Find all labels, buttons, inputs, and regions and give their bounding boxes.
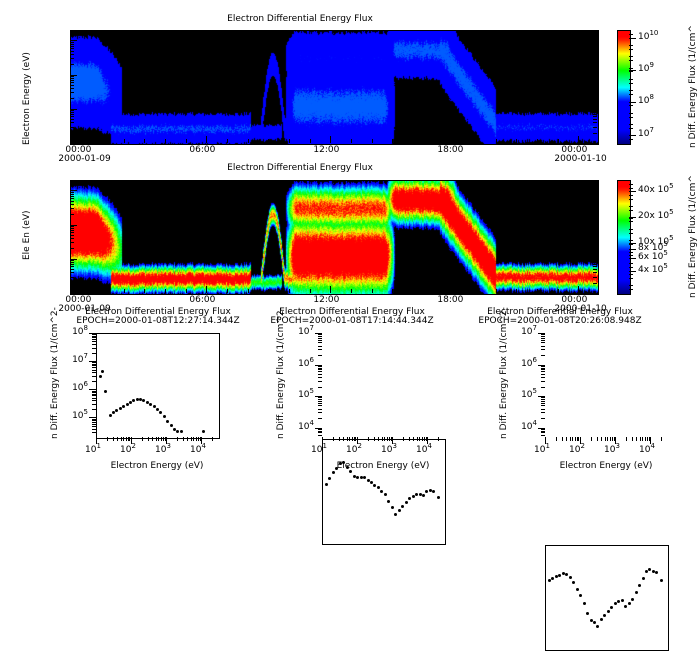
spectrum-2-data-point <box>401 505 404 508</box>
spectrum-1-data-point <box>99 375 102 378</box>
panel2-y-minor-tick <box>593 198 597 199</box>
panel2-x-minor-tick <box>516 289 517 293</box>
panel1-y-minor-tick <box>70 112 74 113</box>
panel1-y-minor-tick <box>70 92 74 93</box>
spectrum-2-x-minor-tick <box>417 437 418 441</box>
spectrum-1-x-minor-tick <box>193 437 194 441</box>
spectrum-3-x-minor-tick <box>614 437 615 441</box>
panel2-y-minor-tick <box>70 272 74 273</box>
spectrum-1-y-minor-tick <box>92 392 96 393</box>
panel2-colorbar-minor-tick <box>629 263 633 264</box>
panel2-x-minor-tick <box>413 289 414 293</box>
spectrum-1-data-point <box>149 403 152 406</box>
spectrum-2-x-minor-tick <box>349 437 350 441</box>
panel1-y-minor-tick <box>70 44 74 45</box>
panel2-y-minor-tick <box>70 262 74 263</box>
panel1-x-label: 12:00 <box>313 145 339 155</box>
panel2-x-minor-tick <box>558 289 559 293</box>
panel1-y-minor-tick <box>593 82 597 83</box>
spectrum-2-y-minor-tick <box>318 418 322 419</box>
spectrum-3-data-point <box>565 573 568 576</box>
spectrum-3-data-point <box>572 581 575 584</box>
spectrum-3-data-point <box>624 605 627 608</box>
panel1-colorbar-minor-tick <box>629 68 633 69</box>
spectrum-1-y-minor-tick <box>92 370 96 371</box>
panel2-ylabel: Ele En (eV) <box>22 210 32 260</box>
spectrum-1-y-major-tick <box>89 389 96 390</box>
spectrum-1-data-point <box>163 415 166 418</box>
spectrum-3-y-minor-tick <box>541 432 545 433</box>
spectrum-1-y-minor-tick <box>92 365 96 366</box>
spectrum-1-data-point <box>176 430 179 433</box>
panel2-x-minor-tick <box>537 289 538 293</box>
spectrum-3-y-minor-tick <box>541 374 545 375</box>
spectrum-3-data-point <box>551 577 554 580</box>
spectrum-2-data-point <box>332 471 335 474</box>
panel1-colorbar-label: 107 <box>638 129 654 139</box>
spectrum-1-data-point <box>126 403 129 406</box>
spectrum-1-data-point <box>115 409 118 412</box>
panel1-y-minor-tick <box>593 80 597 81</box>
panel1-colorbar-label: 108 <box>638 96 654 106</box>
panel1-x-minor-tick <box>475 139 476 143</box>
panel1-colorbar-minor-tick <box>629 83 633 84</box>
spectrum-2-x-minor-tick <box>355 437 356 441</box>
panel1-y-minor-tick <box>70 64 74 65</box>
spectrum-3-x-minor-tick <box>591 437 592 441</box>
spectrum-3-x-minor-tick <box>562 437 563 441</box>
panel2-x-label: 12:00 <box>313 295 339 305</box>
panel1-y-minor-tick <box>593 116 597 117</box>
panel1-x-minor-tick <box>496 139 497 143</box>
panel1-y-minor-tick <box>70 80 74 81</box>
panel1-y-major-tick <box>70 40 77 41</box>
panel1-colorbar-minor-tick <box>629 105 633 106</box>
panel2-y-minor-tick <box>593 228 597 229</box>
panel1-colorbar-label: 109 <box>638 64 654 74</box>
spectrum-1-x-minor-tick <box>117 437 118 441</box>
spectrum-3-data-point <box>655 571 658 574</box>
panel1-x-minor-tick <box>372 139 373 143</box>
spectrum-2-y-label: 105 <box>290 390 314 400</box>
spectrum-3-x-minor-tick <box>661 437 662 441</box>
spectrum-2-x-minor-tick <box>391 437 392 441</box>
spectrum-3-ylabel: n Diff. Energy Flux (1/(cm^2- <box>499 307 509 439</box>
panel2-spectrogram[interactable] <box>70 180 599 295</box>
spectrum-1-y-minor-tick <box>92 348 96 349</box>
panel2-y-major-tick <box>590 190 597 191</box>
spectrum-3-x-minor-tick <box>556 437 557 441</box>
spectrum-3-y-minor-tick <box>541 412 545 413</box>
spectrum-1-xlabel: Electron Energy (eV) <box>68 461 246 471</box>
panel2-x-minor-tick <box>392 289 393 293</box>
spectrum-3-plot[interactable] <box>545 545 669 651</box>
spectrum-2-data-point <box>437 496 440 499</box>
spectrum-3-y-minor-tick <box>541 397 545 398</box>
spectrum-3-x-minor-tick <box>645 437 646 441</box>
spectrum-2-y-minor-tick <box>318 409 322 410</box>
panel1-x-minor-tick <box>103 139 104 143</box>
spectrum-2-x-minor-tick <box>378 437 379 441</box>
panel2-y-major-tick <box>70 190 77 191</box>
spectrum-1-x-minor-tick <box>191 437 192 441</box>
spectrum-3-data-point <box>600 618 603 621</box>
panel1-y-minor-tick <box>70 46 74 47</box>
panel1-y-minor-tick <box>593 112 597 113</box>
panel1-title: Electron Differential Energy Flux <box>0 14 600 24</box>
panel2-colorbar-minor-tick <box>629 274 633 275</box>
spectrum-1-data-point <box>142 399 145 402</box>
panel1-colorbar-minor-tick <box>629 71 633 72</box>
panel1-y-minor-tick <box>70 119 74 120</box>
spectrum-1-x-minor-tick <box>121 437 122 441</box>
spectrum-1-y-minor-tick <box>92 353 96 354</box>
spectrum-3-y-minor-tick <box>541 355 545 356</box>
spectrum-1-y-minor-tick <box>92 394 96 395</box>
spectrum-2-data-point <box>422 494 425 497</box>
panel1-y-minor-tick <box>593 119 597 120</box>
spectrum-1-data-point <box>166 420 169 423</box>
spectrum-3-x-minor-tick <box>601 437 602 441</box>
spectrum-1-x-minor-tick <box>126 437 127 441</box>
spectrum-2-y-minor-tick <box>318 366 322 367</box>
spectrum-2-y-minor-tick <box>318 387 322 388</box>
panel2-y-minor-tick <box>70 242 74 243</box>
panel2-colorbar-minor-tick <box>629 255 633 256</box>
panel2-x-minor-tick <box>124 289 125 293</box>
spectrum-2-y-minor-tick <box>318 342 322 343</box>
spectrum-3-y-minor-tick <box>541 401 545 402</box>
spectrum-2-x-label: 102 <box>346 445 362 455</box>
spectrum-3-y-minor-tick <box>541 418 545 419</box>
panel2-y-major-tick <box>590 293 597 294</box>
panel1-x-minor-tick <box>289 139 290 143</box>
spectrum-1-data-point <box>112 411 115 414</box>
spectrum-3-data-point <box>548 579 551 582</box>
panel2-y-minor-tick <box>593 242 597 243</box>
spectrum-1-x-minor-tick <box>152 437 153 441</box>
spectrum-3-data-point <box>569 576 572 579</box>
spectrum-3-xlabel: Electron Energy (eV) <box>517 461 695 471</box>
panel1-colorbar-minor-tick <box>629 102 633 103</box>
spectrum-2-x-minor-tick <box>389 437 390 441</box>
panel2-y-minor-tick <box>70 238 74 239</box>
panel1-y-major-tick <box>70 143 77 144</box>
spectrum-1-y-minor-tick <box>92 372 96 373</box>
panel2-x-major-tick <box>578 286 579 293</box>
spectrum-2-x-minor-tick <box>339 437 340 441</box>
spectrum-2-data-point <box>384 493 387 496</box>
panel1-colorbar-minor-tick <box>629 45 633 46</box>
panel1-colorbar-minor-tick <box>629 56 633 57</box>
spectrum-2-x-minor-tick <box>384 437 385 441</box>
panel2-y-minor-tick <box>70 226 74 227</box>
panel2-y-minor-tick <box>593 264 597 265</box>
spectrum-1-y-minor-tick <box>92 367 96 368</box>
panel1-y-minor-tick <box>70 114 74 115</box>
spectrum-2-y-minor-tick <box>318 381 322 382</box>
panel1-x-major-tick <box>82 136 83 143</box>
spectrum-3-data-point <box>638 584 641 587</box>
spectrum-2-x-minor-tick <box>352 437 353 441</box>
panel1-y-minor-tick <box>593 46 597 47</box>
panel2-y-minor-tick <box>70 228 74 229</box>
spectrum-1-x-minor-tick <box>187 437 188 441</box>
spectrum-1-x-minor-tick <box>142 437 143 441</box>
panel2-colorbar-tick <box>629 271 636 272</box>
spectrum-1-y-label: 107 <box>64 355 88 365</box>
spectrum-2-y-label: 106 <box>290 359 314 369</box>
panel2-y-minor-tick <box>70 277 74 278</box>
spectrum-1-y-minor-tick <box>92 334 96 335</box>
spectrum-3-y-minor-tick <box>541 381 545 382</box>
panel1-y-minor-tick <box>70 122 74 123</box>
spectrum-1-x-minor-tick <box>123 437 124 441</box>
panel1-y-minor-tick <box>70 78 74 79</box>
spectrum-3-data-point <box>628 602 631 605</box>
panel1-y-minor-tick <box>593 76 597 77</box>
panel1-y-minor-tick <box>70 116 74 117</box>
panel2-colorbar-minor-tick <box>629 206 633 207</box>
panel2-colorbar-minor-tick <box>629 289 633 290</box>
spectrum-2-y-minor-tick <box>318 369 322 370</box>
spectrum-3-y-minor-tick <box>541 431 545 432</box>
spectrum-3-x-minor-tick <box>605 437 606 441</box>
spectrum-3-data-point <box>617 600 620 603</box>
panel2-colorbar-minor-tick <box>629 233 633 234</box>
panel1-y-minor-tick <box>593 58 597 59</box>
spectrum-2-ylabel: n Diff. Energy Flux (1/(cm^2- <box>276 307 286 439</box>
spectrum-3-x-minor-tick <box>612 437 613 441</box>
panel2-y-minor-tick <box>70 194 74 195</box>
panel2-y-minor-tick <box>593 235 597 236</box>
spectrum-2-data-point <box>415 493 418 496</box>
panel2-y-major-tick <box>590 225 597 226</box>
spectrum-2-y-minor-tick <box>318 431 322 432</box>
spectrum-2-x-minor-tick <box>426 437 427 441</box>
spectrum-3-x-minor-tick <box>597 437 598 441</box>
spectrum-2-data-point <box>408 497 411 500</box>
spectrum-3-data-point <box>593 621 596 624</box>
panel1-spectrogram[interactable] <box>70 30 599 145</box>
spectrum-1-x-minor-tick <box>113 437 114 441</box>
panel1-colorbar-minor-tick <box>629 113 633 114</box>
panel2-y-minor-tick <box>593 232 597 233</box>
spectrum-1-x-label: 104 <box>190 445 206 455</box>
panel1-y-minor-tick <box>70 58 74 59</box>
spectrum-2-y-minor-tick <box>318 336 322 337</box>
spectrum-2-y-minor-tick <box>318 399 322 400</box>
spectrum-2-data-point <box>394 513 397 516</box>
panel1-colorbar-minor-tick <box>629 38 633 39</box>
panel2-colorbar-minor-tick <box>629 184 633 185</box>
panel1-x-major-tick <box>578 136 579 143</box>
spectrum-2-data-point <box>391 506 394 509</box>
panel1-colorbar-minor-tick <box>629 124 633 125</box>
spectrum-2-y-minor-tick <box>318 349 322 350</box>
spectrum-3-x-minor-tick <box>649 437 650 441</box>
spectrum-2-x-minor-tick <box>382 437 383 441</box>
panel2-y-major-tick <box>590 259 597 260</box>
panel1-colorbar-minor-tick <box>629 139 633 140</box>
spectrum-1-x-minor-tick <box>200 437 201 441</box>
spectrum-1-x-minor-tick <box>163 437 164 441</box>
panel1-x-minor-tick <box>186 139 187 143</box>
panel1-y-minor-tick <box>70 88 74 89</box>
panel2-y-minor-tick <box>70 235 74 236</box>
panel1-colorbar-minor-tick <box>629 60 633 61</box>
panel2-y-minor-tick <box>70 283 74 284</box>
spectrum-1-y-minor-tick <box>92 364 96 365</box>
spectrum-2-y-minor-tick <box>318 377 322 378</box>
spectrum-1-y-minor-tick <box>92 424 96 425</box>
panel2-x-label: 18:00 <box>437 295 463 305</box>
spectrum-3-data-point <box>596 625 599 628</box>
spectrum-2-data-point <box>387 500 390 503</box>
spectrum-2-x-label: 104 <box>416 445 432 455</box>
spectrum-2-data-point <box>432 490 435 493</box>
spectrum-3-x-minor-tick <box>575 437 576 441</box>
panel2-colorbar-label: 20x 105 <box>638 211 674 221</box>
panel1-y-minor-tick <box>593 64 597 65</box>
panel2-colorbar-tick <box>629 191 636 192</box>
spectrum-2-y-label: 107 <box>290 327 314 337</box>
spectrum-2-x-minor-tick <box>343 437 344 441</box>
panel1-x-minor-tick <box>392 139 393 143</box>
panel2-y-minor-tick <box>70 232 74 233</box>
spectrum-2-data-point <box>373 484 376 487</box>
panel1-x-minor-tick <box>310 139 311 143</box>
panel2-colorbar-tick <box>629 249 636 250</box>
spectrum-3-x-label: 104 <box>639 445 655 455</box>
spectrum-3-data-point <box>583 602 586 605</box>
panel1-y-minor-tick <box>70 76 74 77</box>
spectrum-1-y-minor-tick <box>92 336 96 337</box>
spectrum-2-x-minor-tick <box>374 437 375 441</box>
panel2-colorbar-minor-tick <box>629 221 633 222</box>
panel2-colorbar-label: 6x 105 <box>638 252 668 262</box>
spectrum-1-data-point <box>170 424 173 427</box>
spectrum-1-y-label: 106 <box>64 383 88 393</box>
panel1-y-major-tick <box>590 40 597 41</box>
spectrum-1-y-minor-tick <box>92 337 96 338</box>
spectrum-3-y-minor-tick <box>541 387 545 388</box>
panel2-colorbar-minor-tick <box>629 218 633 219</box>
spectrum-3-y-minor-tick <box>541 340 545 341</box>
panel2-y-minor-tick <box>70 201 74 202</box>
panel1-colorbar-minor-tick <box>629 79 633 80</box>
spectrum-1-y-label: 105 <box>64 411 88 421</box>
panel2-y-minor-tick <box>70 269 74 270</box>
spectrum-3-y-minor-tick <box>541 349 545 350</box>
panel1-x-major-tick <box>206 136 207 143</box>
panel1-x-minor-tick <box>434 139 435 143</box>
spectrum-1-x-label: 101 <box>85 445 101 455</box>
spectrum-3-data-point <box>579 594 582 597</box>
panel2-x-major-tick <box>454 286 455 293</box>
panel2-x-minor-tick <box>165 289 166 293</box>
panel1-y-minor-tick <box>593 133 597 134</box>
spectrum-1-x-minor-tick <box>156 437 157 441</box>
spectrum-3-data-point <box>607 610 610 613</box>
panel2-x-major-tick <box>330 286 331 293</box>
panel2-x-minor-tick <box>289 289 290 293</box>
panel2-y-minor-tick <box>70 230 74 231</box>
panel1-y-major-tick <box>70 109 77 110</box>
spectrum-2-x-minor-tick <box>422 437 423 441</box>
panel2-y-minor-tick <box>70 208 74 209</box>
spectrum-1-x-minor-tick <box>196 437 197 441</box>
panel1-y-major-tick <box>590 109 597 110</box>
panel2-y-minor-tick <box>593 266 597 267</box>
panel2-y-minor-tick <box>70 198 74 199</box>
panel2-x-major-tick <box>82 286 83 293</box>
panel2-y-minor-tick <box>593 194 597 195</box>
spectrum-1-data-point <box>109 414 112 417</box>
panel2-y-minor-tick <box>593 226 597 227</box>
panel2-y-major-tick <box>70 293 77 294</box>
panel1-y-minor-tick <box>593 54 597 55</box>
spectrum-2-y-minor-tick <box>318 338 322 339</box>
panel2-y-minor-tick <box>70 248 74 249</box>
spectrum-3-data-point <box>631 598 634 601</box>
panel2-y-minor-tick <box>593 269 597 270</box>
spectrum-1-y-minor-tick <box>92 398 96 399</box>
spectrum-3-x-minor-tick <box>647 437 648 441</box>
spectrum-1-epoch: EPOCH=2000-01-08T12:27:14.344Z <box>58 316 258 326</box>
spectrum-1-y-minor-tick <box>92 404 96 405</box>
panel1-y-minor-tick <box>593 44 597 45</box>
spectrum-3-x-minor-tick <box>636 437 637 441</box>
panel2-colorbar-minor-tick <box>629 285 633 286</box>
panel2-colorbar-minor-tick <box>629 210 633 211</box>
spectrum-3-y-minor-tick <box>541 377 545 378</box>
panel1-y-minor-tick <box>70 85 74 86</box>
panel1-x-minor-tick <box>227 139 228 143</box>
spectrum-3-data-point <box>603 614 606 617</box>
spectrum-1-data-point <box>104 390 107 393</box>
spectrum-1-data-point <box>180 430 183 433</box>
spectrum-1-y-minor-tick <box>92 409 96 410</box>
spectrum-3-x-minor-tick <box>572 437 573 441</box>
panel1-y-minor-tick <box>593 85 597 86</box>
spectrum-3-y-minor-tick <box>541 366 545 367</box>
spectrum-2-xlabel: Electron Energy (eV) <box>294 461 472 471</box>
panel1-colorbar-minor-tick <box>629 90 633 91</box>
spectrum-3-data-point <box>642 577 645 580</box>
spectrum-2-y-minor-tick <box>318 346 322 347</box>
panel2-title: Electron Differential Energy Flux <box>0 163 600 173</box>
panel1-x-major-tick <box>454 136 455 143</box>
panel1-y-minor-tick <box>593 42 597 43</box>
spectrum-3-y-minor-tick <box>541 403 545 404</box>
panel2-x-minor-tick <box>475 289 476 293</box>
panel1-colorbar-minor-tick <box>629 135 633 136</box>
spectrum-1-plot[interactable] <box>96 333 220 439</box>
panel2-y-minor-tick <box>593 192 597 193</box>
spectrum-1-y-minor-tick <box>92 422 96 423</box>
spectrum-2-y-minor-tick <box>318 405 322 406</box>
panel1-y-minor-tick <box>70 51 74 52</box>
panel2-colorbar-label: 40x 105 <box>638 185 674 195</box>
panel2-x-major-tick <box>206 286 207 293</box>
panel2-y-minor-tick <box>593 204 597 205</box>
panel2-y-minor-tick <box>70 192 74 193</box>
spectrum-3-x-minor-tick <box>640 437 641 441</box>
spectrum-1-y-minor-tick <box>92 362 96 363</box>
panel1-colorbar-minor-tick <box>629 117 633 118</box>
panel2-colorbar-tick <box>629 258 636 259</box>
